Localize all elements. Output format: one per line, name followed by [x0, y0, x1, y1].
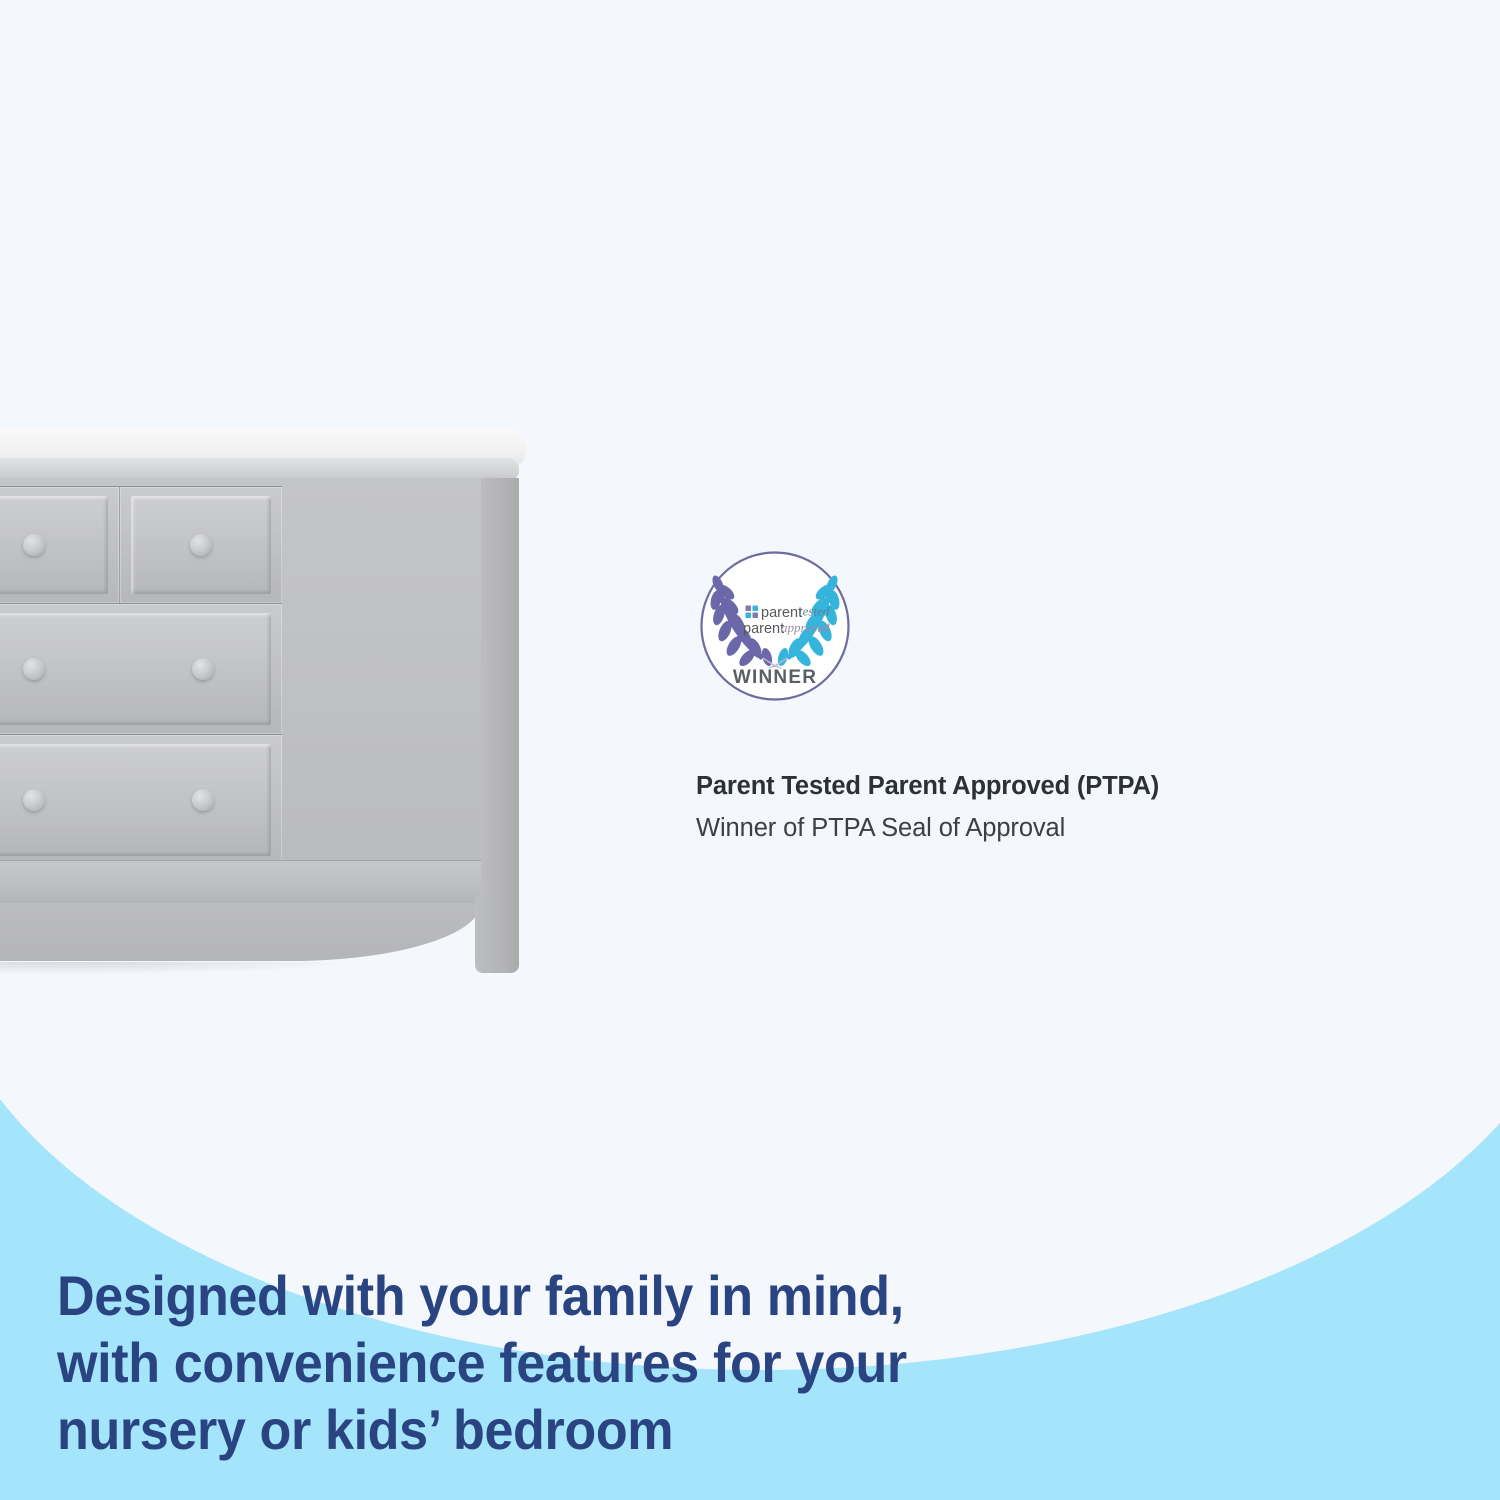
svg-text:parent: parent [761, 605, 802, 621]
award-subtitle: Winner of PTPA Seal of Approval [696, 814, 1065, 843]
headline-line-2: with convenience features for your [57, 1329, 907, 1396]
dresser-apron [0, 903, 481, 961]
headline-line-1: Designed with your family in mind, [57, 1262, 907, 1329]
svg-text:tested: tested [799, 604, 830, 619]
drawer-knob [192, 789, 214, 811]
svg-text:WINNER: WINNER [733, 667, 817, 688]
drawer-knob [192, 658, 214, 680]
drawer-top-right [119, 486, 282, 603]
dresser-drawer-grid [0, 486, 481, 861]
headline: Designed with your family in mind, with … [57, 1262, 907, 1463]
svg-text:parent: parent [743, 621, 784, 637]
drawer-knob [23, 658, 45, 680]
dresser-leg [475, 896, 519, 973]
dresser-plinth [0, 860, 481, 903]
award-title: Parent Tested Parent Approved (PTPA) [696, 772, 1159, 801]
ptpa-winner-seal-icon: parent tested parent approved ™ WINNER [699, 550, 851, 702]
drawer-knob [190, 534, 212, 556]
drawer-bevel [0, 496, 108, 594]
drawer-middle-right [0, 603, 282, 734]
drawer-bottom-right [0, 734, 282, 865]
drawer-knob [23, 534, 45, 556]
drawer-top-center [0, 486, 119, 603]
dresser-shadow [0, 962, 352, 974]
dresser-side-panel [481, 478, 519, 903]
drawer-knob [23, 789, 45, 811]
product-image-dresser [0, 428, 532, 973]
marketing-banner: parent tested parent approved ™ WINNER P… [0, 0, 1500, 1500]
headline-line-3: nursery or kids’ bedroom [57, 1396, 907, 1463]
dresser-top-edge [0, 458, 519, 480]
svg-text:™: ™ [823, 624, 829, 630]
dresser-body [0, 478, 519, 903]
